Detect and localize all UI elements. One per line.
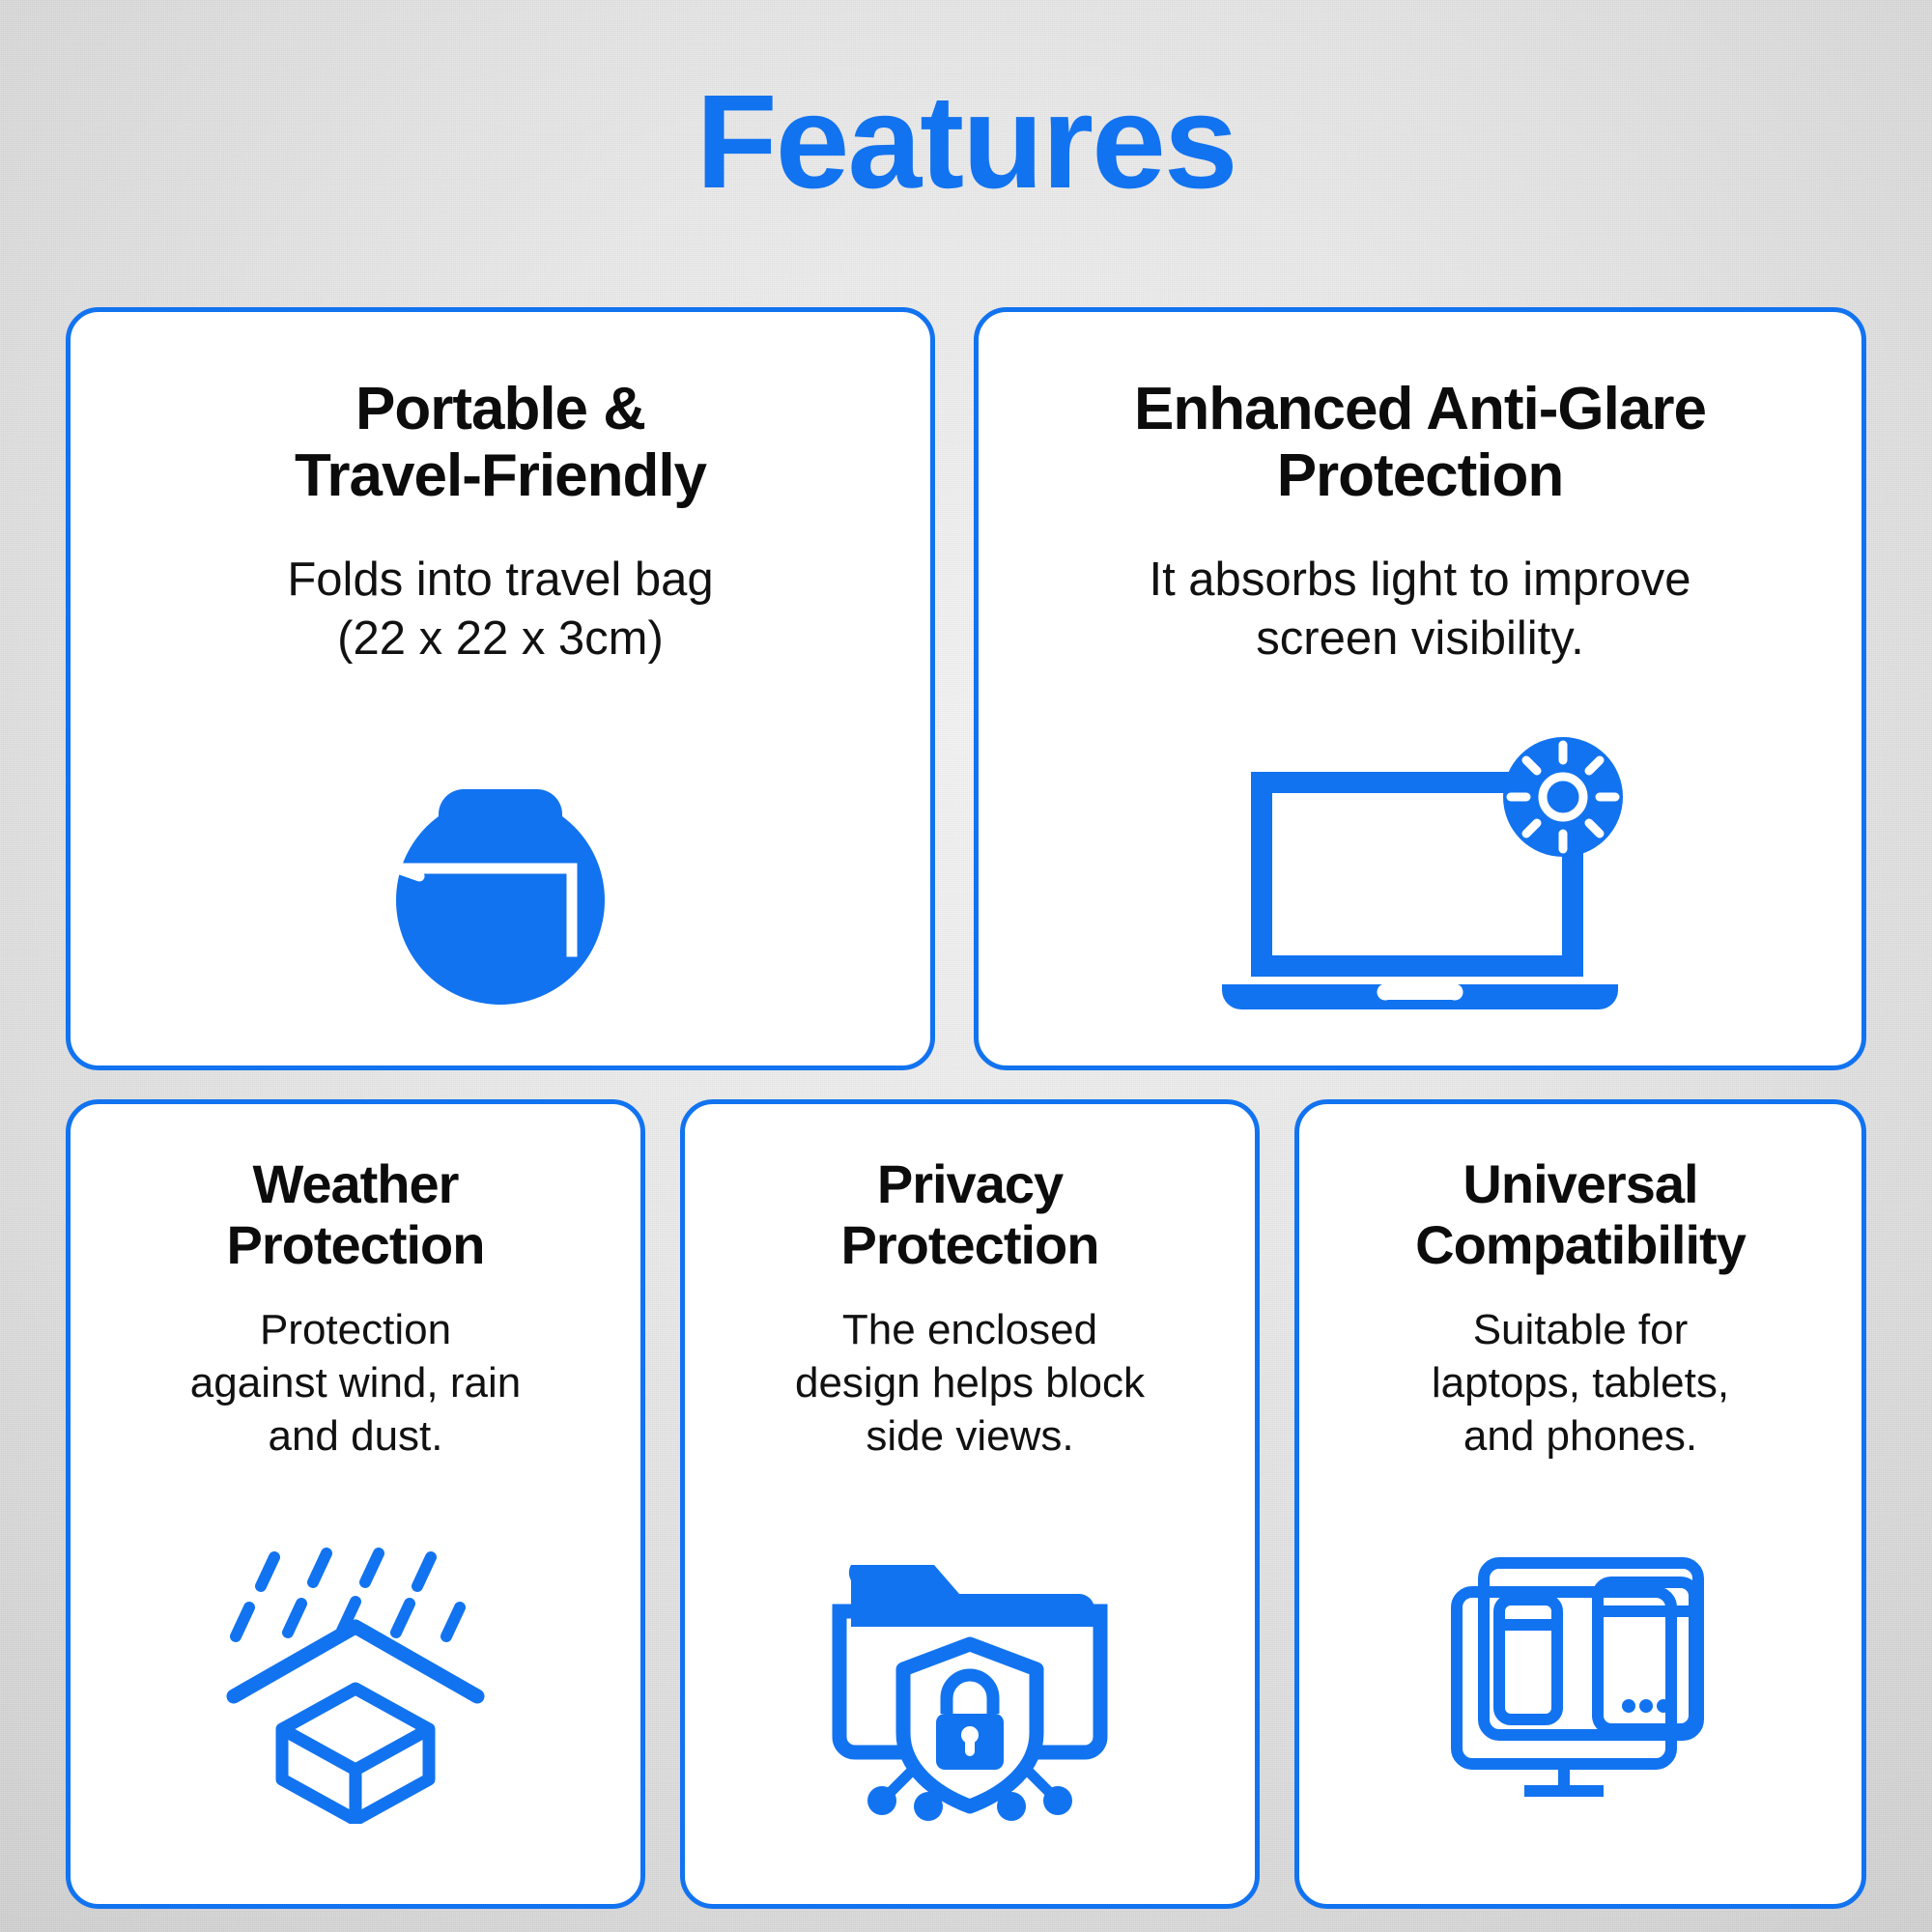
rain-shelter-box-icon bbox=[211, 1544, 500, 1824]
icon-container-weather bbox=[71, 1463, 640, 1904]
card-title-universal: Universal Compatibility bbox=[1415, 1154, 1746, 1275]
icon-container-privacy bbox=[685, 1463, 1255, 1904]
card-title-weather: Weather Protection bbox=[227, 1154, 485, 1275]
card-description-weather: Protection against wind, rain and dust. bbox=[190, 1304, 521, 1463]
feature-card-universal[interactable]: Universal Compatibility Suitable for lap… bbox=[1294, 1099, 1866, 1909]
multi-device-icon bbox=[1435, 1544, 1725, 1824]
card-title-portable: Portable & Travel-Friendly bbox=[295, 376, 706, 510]
card-description-antiglare: It absorbs light to improve screen visib… bbox=[1149, 551, 1690, 668]
feature-card-privacy[interactable]: Privacy Protection The enclosed design h… bbox=[680, 1099, 1260, 1909]
card-description-privacy: The enclosed design helps block side vie… bbox=[795, 1304, 1145, 1463]
feature-card-weather[interactable]: Weather Protection Protection against wi… bbox=[66, 1099, 645, 1909]
page-title: Features bbox=[0, 75, 1932, 209]
card-title-antiglare: Enhanced Anti-Glare Protection bbox=[1134, 376, 1706, 510]
icon-container-portable bbox=[71, 668, 930, 1065]
icon-container-antiglare bbox=[979, 668, 1861, 1065]
feature-card-antiglare[interactable]: Enhanced Anti-Glare Protection It absorb… bbox=[974, 307, 1866, 1070]
travel-bag-icon bbox=[355, 722, 645, 1011]
feature-card-portable[interactable]: Portable & Travel-Friendly Folds into tr… bbox=[66, 307, 935, 1070]
icon-container-universal bbox=[1299, 1463, 1861, 1904]
card-description-portable: Folds into travel bag (22 x 22 x 3cm) bbox=[287, 551, 713, 668]
card-title-privacy: Privacy Protection bbox=[841, 1154, 1099, 1275]
features-infographic: Features Portable & Travel-Friendly Fold… bbox=[0, 0, 1932, 1932]
folder-shield-lock-icon bbox=[820, 1544, 1120, 1824]
laptop-brightness-icon bbox=[1212, 722, 1628, 1011]
card-description-universal: Suitable for laptops, tablets, and phone… bbox=[1432, 1304, 1729, 1463]
